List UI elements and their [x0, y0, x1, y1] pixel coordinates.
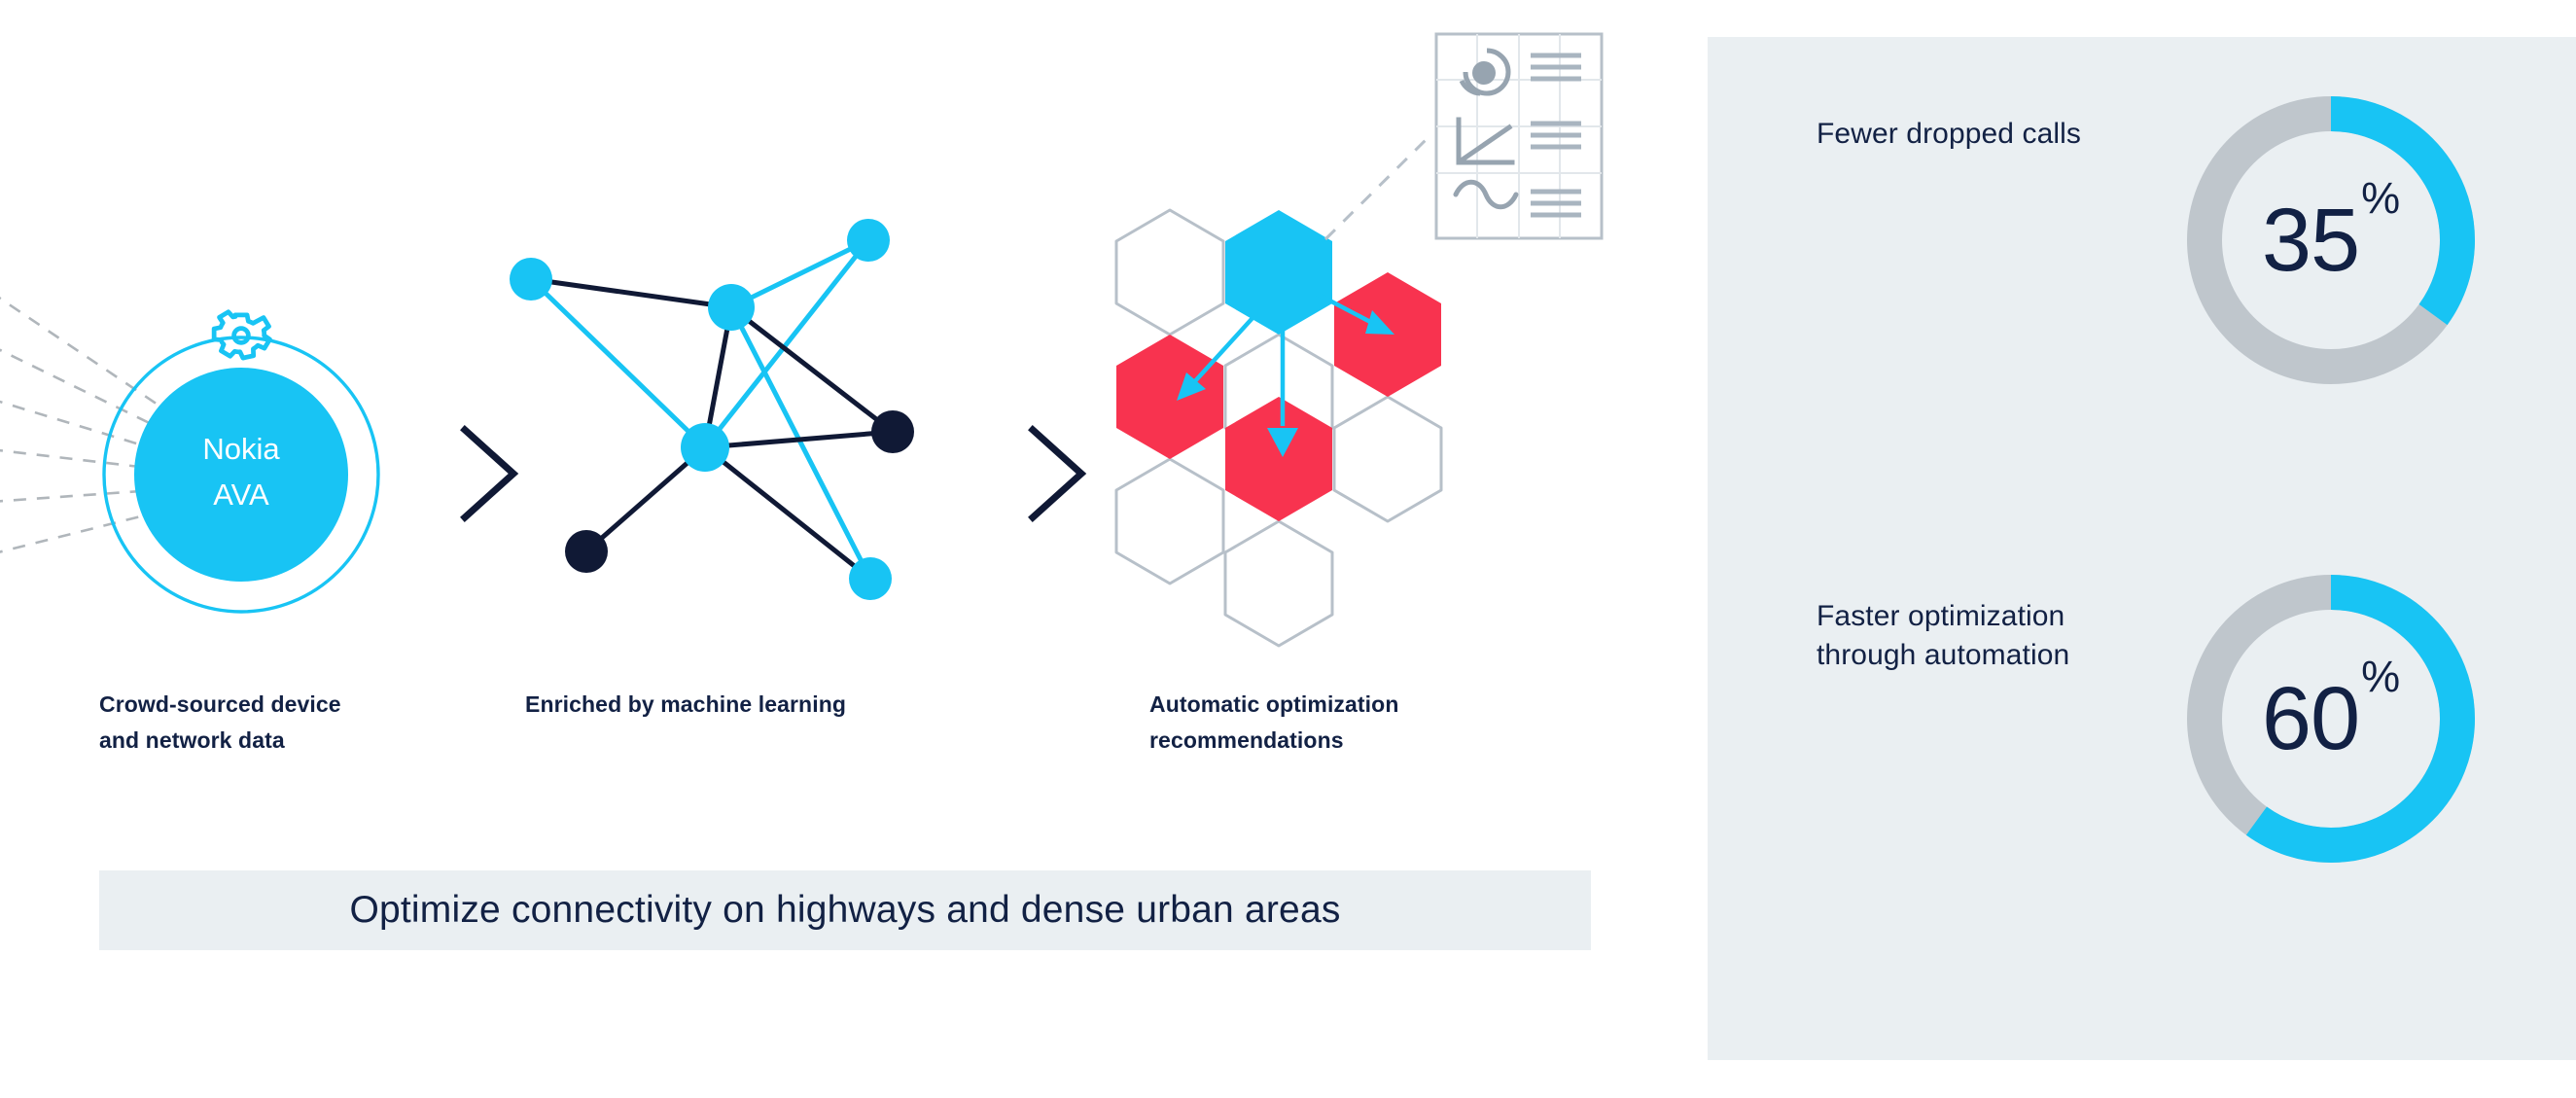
infographic-page: Nokia AVA — [0, 0, 2576, 1098]
stats-panel: Fewer dropped calls 35 % Faster optimiza… — [1708, 37, 2576, 1060]
report-connector-line — [1325, 136, 1429, 239]
summary-banner: Optimize connectivity on highways and de… — [99, 870, 1591, 950]
stat-label-faster-optimization: Faster optimization through automation — [1817, 597, 2069, 675]
ava-label-line1: Nokia — [202, 432, 280, 466]
chevron-2-icon — [1033, 430, 1081, 517]
donut-chart-faster-optimization: 60 % — [2174, 562, 2488, 875]
ml-network-graph — [510, 219, 914, 600]
network-node — [510, 258, 552, 301]
nokia-ava-badge: Nokia AVA — [104, 337, 378, 612]
stat-label-fewer-dropped-calls: Fewer dropped calls — [1817, 115, 2081, 154]
network-node — [847, 219, 890, 262]
donut-chart-dropped-calls: 35 % — [2174, 84, 2488, 397]
hex-target-left — [1116, 335, 1223, 459]
hex-target-right — [1334, 272, 1441, 397]
optimization-hex-grid — [1116, 136, 1441, 646]
stage-1-caption: Crowd-sourced device and network data — [99, 687, 508, 759]
ava-label-line2: AVA — [213, 478, 269, 512]
hex-empty — [1116, 459, 1223, 584]
network-node — [708, 284, 755, 331]
gear-icon — [214, 312, 269, 358]
network-node — [565, 530, 608, 573]
network-edges — [531, 240, 893, 579]
network-node — [871, 410, 914, 453]
report-text-lines — [1531, 55, 1581, 215]
summary-banner-text: Optimize connectivity on highways and de… — [99, 870, 1591, 950]
hex-empty — [1225, 521, 1332, 646]
hex-target-center — [1225, 397, 1332, 521]
hex-source — [1225, 210, 1332, 335]
stage-3-caption: Automatic optimization recommendations — [1149, 687, 1568, 759]
network-node — [849, 557, 892, 600]
chevron-1-icon — [465, 430, 513, 517]
hex-empty — [1334, 397, 1441, 521]
analytics-report-icon — [1436, 34, 1602, 238]
network-node — [681, 423, 729, 472]
stage-2-caption: Enriched by machine learning — [525, 687, 972, 723]
hex-empty — [1116, 210, 1223, 335]
ava-inner-disc — [134, 368, 348, 582]
